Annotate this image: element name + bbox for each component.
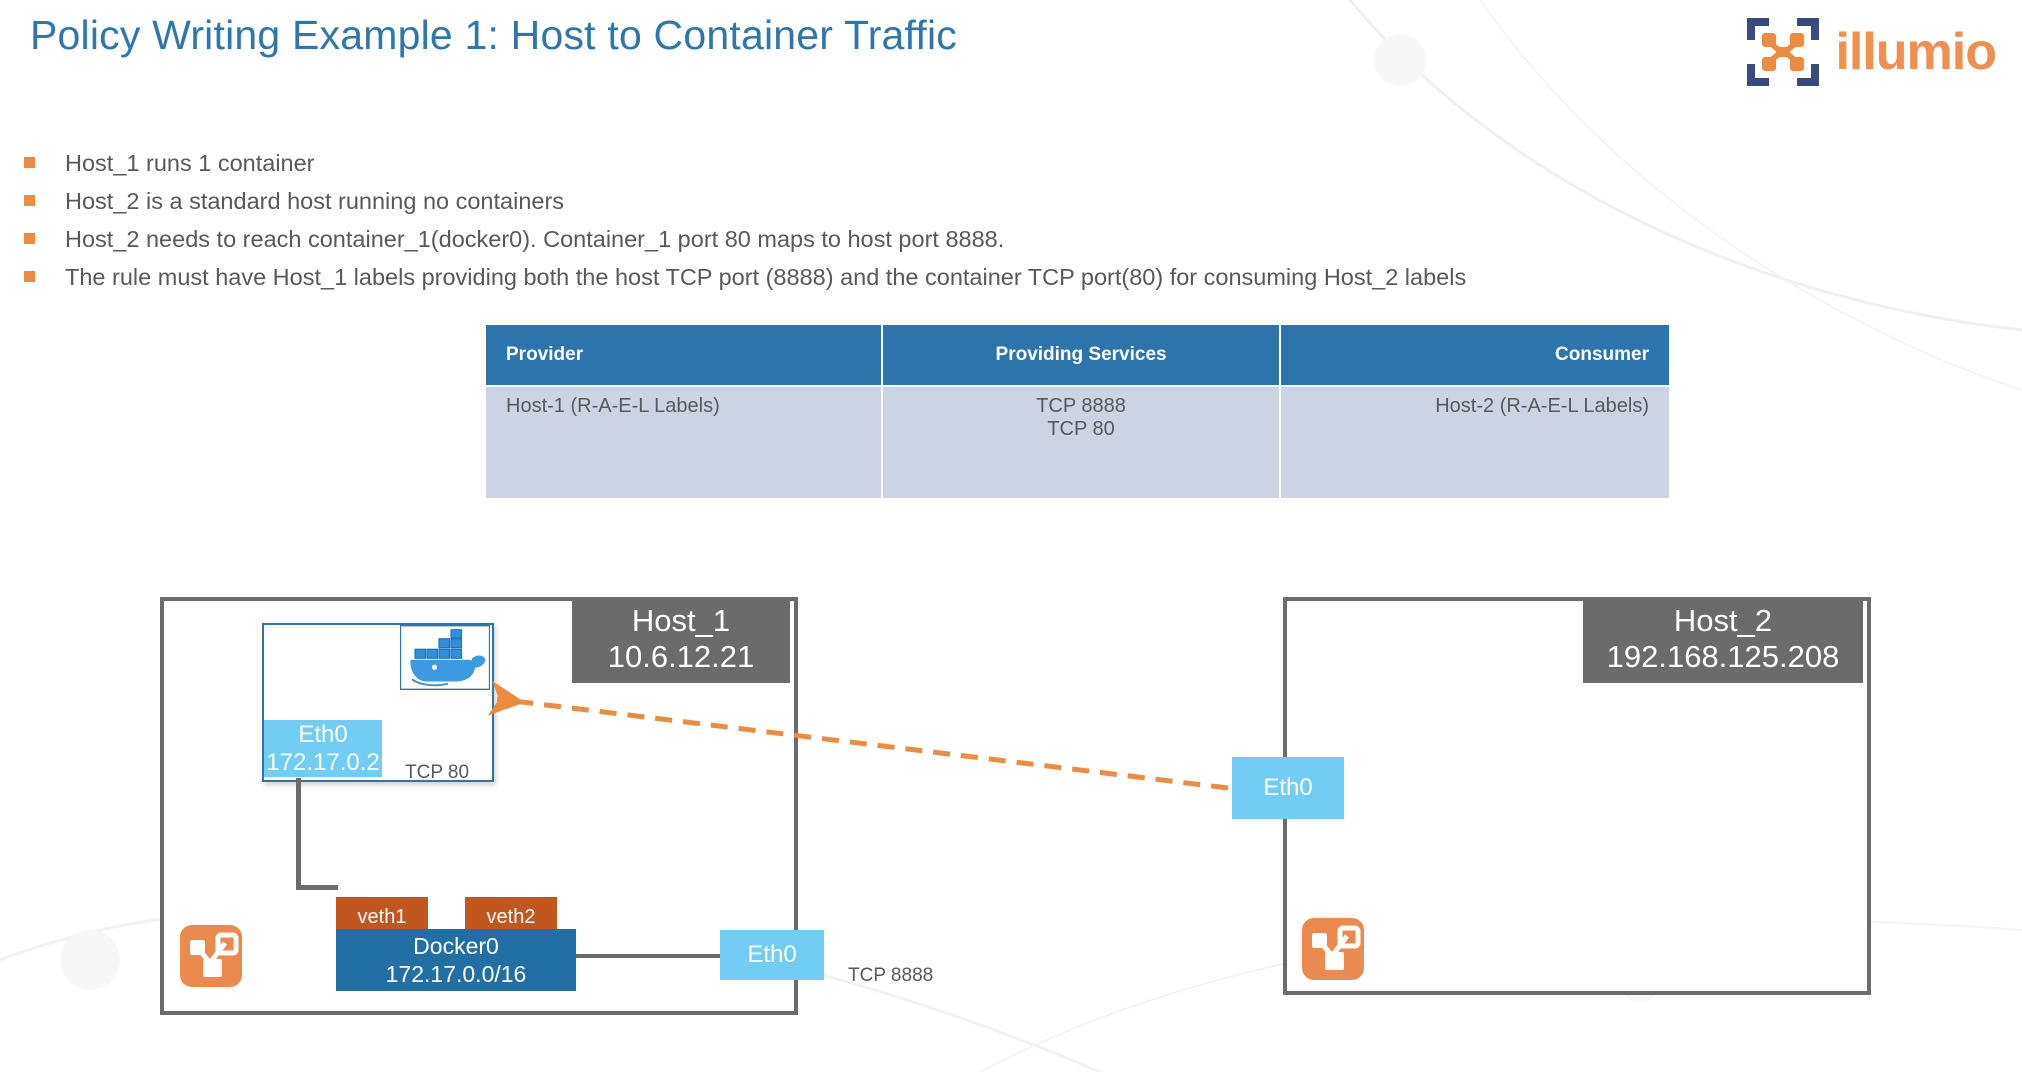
host1-eth0-name: Eth0 [747, 941, 796, 969]
docker0-name: Docker0 [413, 932, 499, 960]
veth2-label: veth2 [487, 906, 536, 929]
bullet-text: Host_2 is a standard host running no con… [65, 186, 564, 217]
container1-eth0: Eth0 172.17.0.2 [264, 720, 382, 777]
docker0-cidr: 172.17.0.0/16 [386, 960, 527, 988]
ven-node-graph-icon [180, 925, 242, 987]
host1-ven-agent-icon [180, 925, 242, 987]
wire-container-to-veth-horizontal [296, 885, 338, 890]
host2-eth0-name: Eth0 [1263, 774, 1312, 802]
container1-eth0-ip: 172.17.0.2 [266, 749, 379, 777]
ven-node-graph-icon [1302, 918, 1364, 980]
service-port-80: TCP 80 [903, 418, 1258, 441]
page-title: Policy Writing Example 1: Host to Contai… [30, 12, 957, 59]
table-row: Host-1 (R-A-E-L Labels) TCP 8888 TCP 80 … [486, 387, 1669, 498]
docker0-bridge-box: Docker0 172.17.0.0/16 [336, 929, 576, 991]
service-port-8888: TCP 8888 [903, 395, 1258, 418]
bullet-text: The rule must have Host_1 labels providi… [65, 262, 1466, 293]
host1-header: Host_1 10.6.12.21 [572, 597, 790, 683]
list-item: Host_2 needs to reach container_1(docker… [24, 224, 1584, 255]
bullet-text: Host_1 runs 1 container [65, 148, 315, 179]
bullet-square-icon [24, 195, 35, 206]
bullet-text: Host_2 needs to reach container_1(docker… [65, 224, 1004, 255]
policy-rule-table: Provider Providing Services Consumer Hos… [484, 323, 1671, 500]
list-item: The rule must have Host_1 labels providi… [24, 262, 1584, 293]
host1-ip: 10.6.12.21 [588, 639, 774, 675]
veth1-label: veth1 [358, 906, 407, 929]
logo-wordmark: illumio [1835, 26, 1996, 78]
network-diagram: Host_1 10.6.12.21 Eth0 172. [0, 575, 2022, 1075]
slide-root: Policy Writing Example 1: Host to Contai… [0, 0, 2022, 1072]
wire-docker0-to-eth0 [570, 954, 720, 958]
host1-port-label: TCP 8888 [848, 965, 933, 987]
column-header-provider: Provider [486, 325, 881, 385]
column-header-providing-services: Providing Services [883, 325, 1278, 385]
wire-container-to-veth-vertical [296, 778, 301, 889]
container1-eth0-name: Eth0 [298, 721, 347, 749]
host2-header: Host_2 192.168.125.208 [1583, 597, 1863, 683]
container1-port-label: TCP 80 [405, 762, 469, 784]
list-item: Host_2 is a standard host running no con… [24, 186, 1584, 217]
docker-whale-icon [400, 625, 490, 690]
host1-eth0: Eth0 [720, 930, 824, 980]
bullet-list: Host_1 runs 1 container Host_2 is a stan… [24, 148, 1584, 300]
brand-logo: illumio [1745, 16, 1996, 88]
host2-ip: 192.168.125.208 [1599, 639, 1847, 675]
cell-provider: Host-1 (R-A-E-L Labels) [486, 387, 881, 498]
bullet-square-icon [24, 157, 35, 168]
host1-name: Host_1 [588, 603, 774, 639]
cell-consumer: Host-2 (R-A-E-L Labels) [1281, 387, 1669, 498]
bullet-square-icon [24, 233, 35, 244]
cell-providing-services: TCP 8888 TCP 80 [883, 387, 1278, 498]
bullet-square-icon [24, 271, 35, 282]
illumio-bracket-node-icon [1745, 16, 1821, 88]
column-header-consumer: Consumer [1281, 325, 1669, 385]
table-header-row: Provider Providing Services Consumer [486, 325, 1669, 385]
host2-ven-agent-icon [1302, 918, 1364, 980]
host2-name: Host_2 [1599, 603, 1847, 639]
host2-eth0: Eth0 [1232, 757, 1344, 819]
list-item: Host_1 runs 1 container [24, 148, 1584, 179]
